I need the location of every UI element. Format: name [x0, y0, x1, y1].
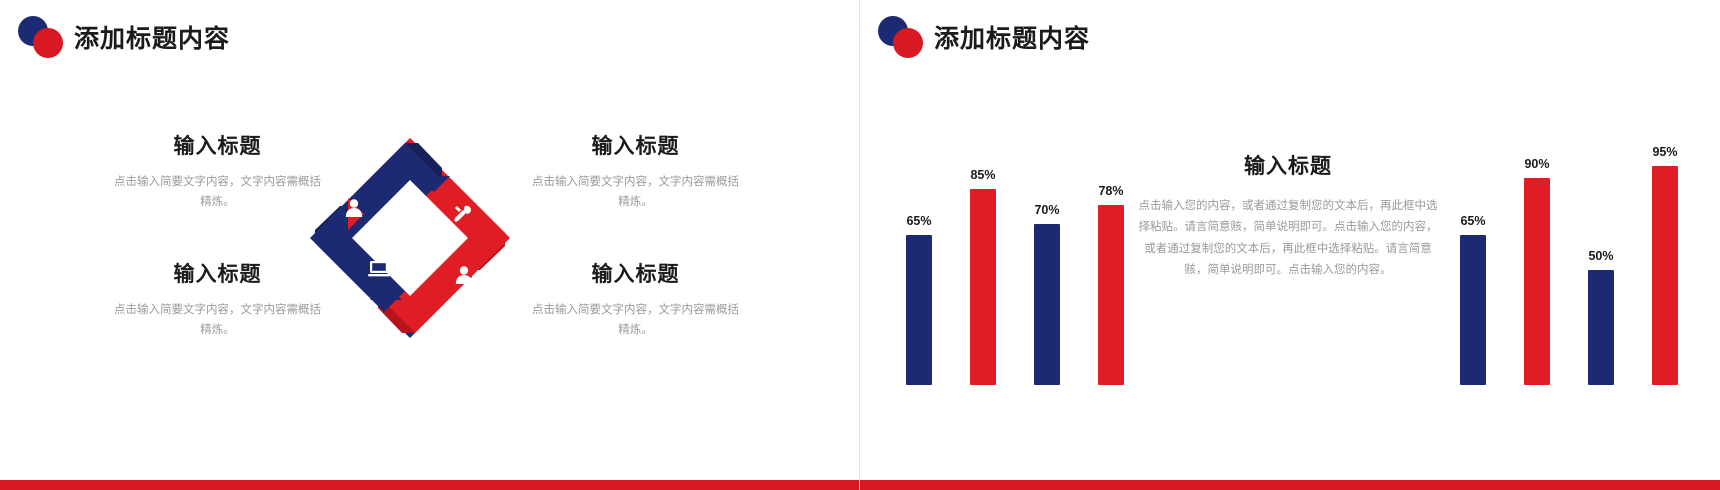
bar-0 — [906, 235, 932, 385]
laptop-icon — [368, 261, 390, 276]
bar-value-label: 85% — [970, 168, 995, 182]
bar-chart-right-group: 65% 90% 50% 95% — [1454, 145, 1684, 385]
bar-item: 95% — [1646, 145, 1684, 385]
bar-7 — [1652, 166, 1678, 385]
dual-circle-logo-icon — [16, 14, 68, 60]
bar-4 — [1460, 235, 1486, 385]
logo-circle-red — [33, 28, 63, 58]
interlocking-diamond-arrows-graphic — [290, 118, 530, 358]
bar-item: 65% — [1454, 214, 1492, 385]
bar-value-label: 78% — [1098, 184, 1123, 198]
slide-left-header: 添加标题内容 — [16, 14, 230, 60]
bar-value-label: 70% — [1034, 203, 1059, 217]
page-title: 添加标题内容 — [934, 19, 1090, 55]
bottom-accent-bar — [0, 480, 859, 490]
feature-desc: 点击输入简要文字内容，文字内容需概括精炼。 — [528, 300, 743, 340]
bar-2 — [1034, 224, 1060, 385]
bar-6 — [1588, 270, 1614, 385]
bar-3 — [1098, 205, 1124, 385]
bar-chart-left-group: 65% 85% 70% 78% — [900, 168, 1130, 385]
slide-right-header: 添加标题内容 — [876, 14, 1090, 60]
bar-item: 90% — [1518, 157, 1556, 385]
content-text-block: 输入标题 点击输入您的内容，或者通过复制您的文本后，再此框中选择粘贴。请言简意赅… — [1138, 150, 1438, 281]
bar-value-label: 65% — [906, 214, 931, 228]
slide-deck: 添加标题内容 输入标题 点击输入简要文字内容，文字内容需概括精炼。 输入标题 点… — [0, 0, 1720, 490]
bar-value-label: 90% — [1524, 157, 1549, 171]
bar-value-label: 65% — [1460, 214, 1485, 228]
feature-desc: 点击输入简要文字内容，文字内容需概括精炼。 — [528, 172, 743, 212]
content-desc: 点击输入您的内容，或者通过复制您的文本后，再此框中选择粘贴。请言简意赅，简单说明… — [1138, 196, 1438, 281]
feature-title: 输入标题 — [528, 258, 743, 288]
bar-value-label: 95% — [1652, 145, 1677, 159]
content-title: 输入标题 — [1138, 150, 1438, 180]
page-title: 添加标题内容 — [74, 19, 230, 55]
feature-item-bottom-right: 输入标题 点击输入简要文字内容，文字内容需概括精炼。 — [528, 258, 743, 340]
feature-item-top-right: 输入标题 点击输入简要文字内容，文字内容需概括精炼。 — [528, 130, 743, 212]
bottom-accent-bar — [860, 480, 1720, 490]
bar-5 — [1524, 178, 1550, 385]
feature-title: 输入标题 — [528, 130, 743, 160]
bar-item: 50% — [1582, 249, 1620, 385]
slide-right: 添加标题内容 65% 85% 70% 78% 输入标题 点击输入 — [860, 0, 1720, 490]
bar-value-label: 50% — [1588, 249, 1613, 263]
dual-circle-logo-icon — [876, 14, 928, 60]
bar-item: 78% — [1092, 184, 1130, 385]
slide-left: 添加标题内容 输入标题 点击输入简要文字内容，文字内容需概括精炼。 输入标题 点… — [0, 0, 860, 490]
bar-item: 85% — [964, 168, 1002, 385]
bar-1 — [970, 189, 996, 385]
bar-item: 65% — [900, 214, 938, 385]
logo-circle-red — [893, 28, 923, 58]
bar-item: 70% — [1028, 203, 1066, 385]
